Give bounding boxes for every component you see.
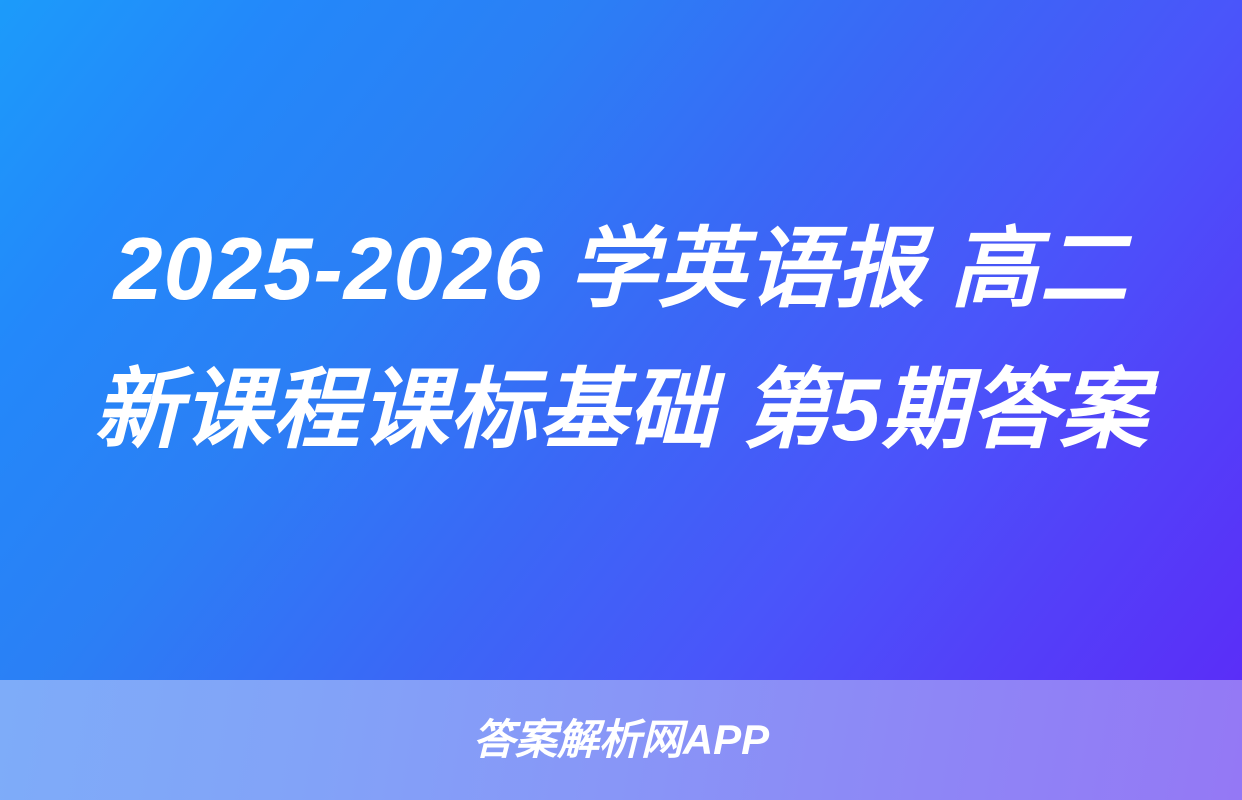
hero-gradient-panel: 2025-2026 学英语报 高二 新课程课标基础 第5期答案 — [0, 0, 1242, 680]
title-block: 2025-2026 学英语报 高二 新课程课标基础 第5期答案 — [51, 199, 1191, 481]
banner-root: 2025-2026 学英语报 高二 新课程课标基础 第5期答案 答案解析网APP — [0, 0, 1242, 800]
footer-watermark-strip: 答案解析网APP — [0, 680, 1242, 800]
banner-title: 2025-2026 学英语报 高二 新课程课标基础 第5期答案 — [57, 199, 1185, 481]
app-watermark-label: 答案解析网APP — [473, 719, 769, 761]
